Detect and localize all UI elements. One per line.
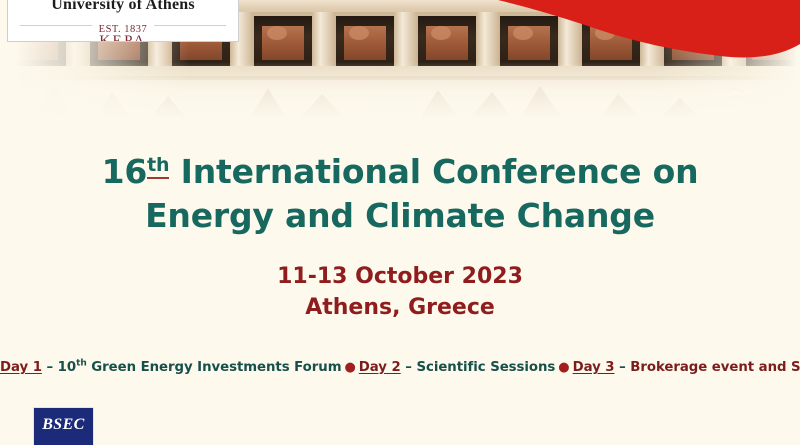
kepa-unit-label: KEPA bbox=[8, 34, 238, 42]
day-separator-1: ● bbox=[342, 360, 359, 375]
day-1-tag: Day 1 bbox=[0, 360, 42, 375]
day-1-item: Day 1 – 10th Green Energy Investments Fo… bbox=[0, 360, 342, 375]
established-row: EST. 1837 bbox=[8, 19, 238, 32]
day-programme-strip: Day 1 – 10th Green Energy Investments Fo… bbox=[0, 360, 800, 375]
university-logo-box: University of Athens EST. 1837 KEPA bbox=[7, 0, 239, 42]
day-3-item: Day 3 – Brokerage event and Start-ups bbox=[573, 360, 800, 375]
bsec-logo: BSEC bbox=[33, 407, 94, 445]
event-location: Athens, Greece bbox=[0, 292, 800, 323]
day-1-desc-number: 10 bbox=[58, 360, 76, 375]
day-1-desc-suffix: th bbox=[76, 359, 87, 369]
event-dates: 11-13 October 2023 bbox=[0, 261, 800, 292]
day-3-dash: – bbox=[615, 360, 631, 375]
day-2-desc: Scientific Sessions bbox=[416, 360, 555, 375]
day-3-tag: Day 3 bbox=[573, 360, 615, 375]
event-date-location: 11-13 October 2023 Athens, Greece bbox=[0, 261, 800, 323]
conference-title: 16th International Conference on Energy … bbox=[0, 150, 800, 238]
title-line-1: 16th International Conference on bbox=[0, 150, 800, 194]
title-ordinal-suffix: th bbox=[147, 154, 169, 179]
title-ordinal-number: 16 bbox=[102, 152, 148, 191]
day-2-tag: Day 2 bbox=[359, 360, 401, 375]
title-line-1-rest: International Conference on bbox=[169, 152, 698, 191]
day-2-dash: – bbox=[401, 360, 417, 375]
bsec-logo-label: BSEC bbox=[34, 416, 93, 434]
university-name: University of Athens bbox=[8, 0, 238, 13]
title-line-2: Energy and Climate Change bbox=[0, 194, 800, 238]
day-separator-2: ● bbox=[555, 360, 572, 375]
day-2-item: Day 2 – Scientific Sessions bbox=[359, 360, 556, 375]
day-1-dash: – bbox=[42, 360, 58, 375]
day-3-desc: Brokerage event and Start-ups bbox=[630, 360, 800, 375]
established-year: EST. 1837 bbox=[92, 24, 155, 35]
conference-poster: University of Athens EST. 1837 KEPA 16th… bbox=[0, 0, 800, 445]
day-1-desc: Green Energy Investments Forum bbox=[87, 360, 342, 375]
